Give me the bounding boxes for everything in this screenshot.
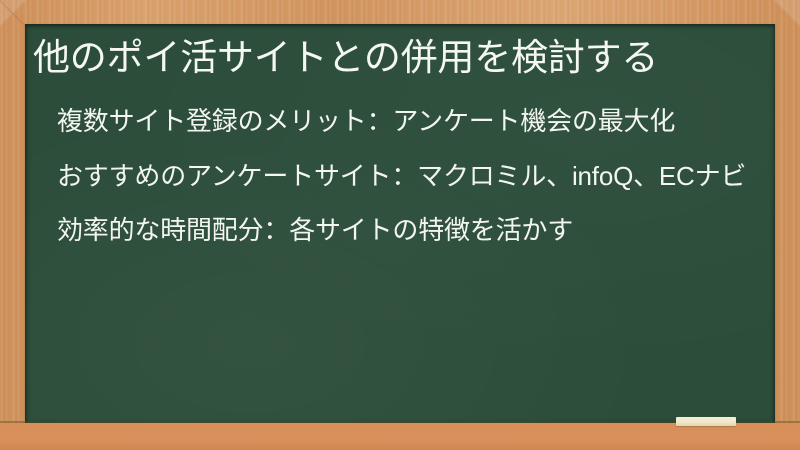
bullet-item: 複数サイト登録のメリット：アンケート機会の最大化 [57, 104, 749, 139]
slide-title: 他のポイ活サイトとの併用を検討する [33, 36, 763, 80]
chalkboard-surface: 他のポイ活サイトとの併用を検討する 複数サイト登録のメリット：アンケート機会の最… [25, 24, 775, 423]
bullet-item: おすすめのアンケートサイト：マクロミル、infoQ、ECナビ [57, 159, 749, 194]
frame-corner-top-left [0, 0, 26, 26]
chalk-ledge [0, 423, 800, 450]
bullet-list: 複数サイト登録のメリット：アンケート機会の最大化 おすすめのアンケートサイト：マ… [57, 104, 749, 248]
chalk-stick-icon [676, 417, 736, 426]
frame-corner-top-right [774, 0, 800, 26]
bullet-item: 効率的な時間配分：各サイトの特徴を活かす [57, 213, 749, 248]
chalkboard-slide: 他のポイ活サイトとの併用を検討する 複数サイト登録のメリット：アンケート機会の最… [0, 0, 800, 450]
